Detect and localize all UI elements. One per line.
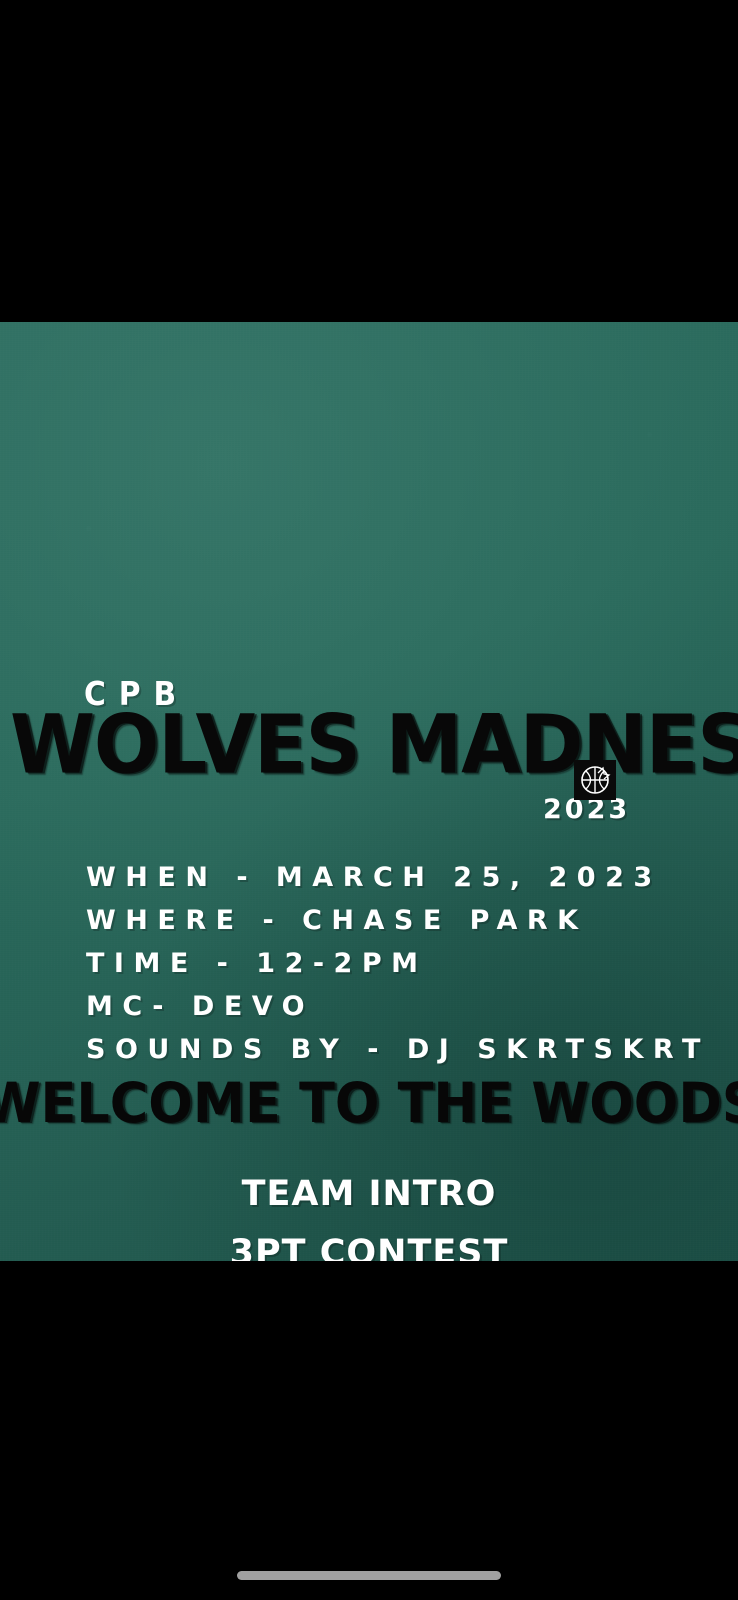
- home-indicator[interactable]: [237, 1571, 501, 1580]
- detail-line-when: WHEN - MARCH 25, 2023: [86, 856, 710, 899]
- event-details-list: WHEN - MARCH 25, 2023 WHERE - CHASE PARK…: [86, 856, 710, 1071]
- flyer-content: CPB WOLVES MADNESS 2023 WHEN - MARCH 25,…: [0, 322, 738, 1261]
- flyer-title: WOLVES MADNESS: [10, 704, 738, 785]
- detail-line-mc: MC- DEVO: [86, 985, 710, 1028]
- phone-screen: CPB WOLVES MADNESS 2023 WHEN - MARCH 25,…: [0, 0, 738, 1600]
- bottom-letterbox: [0, 1261, 738, 1600]
- event-flyer-image[interactable]: CPB WOLVES MADNESS 2023 WHEN - MARCH 25,…: [0, 322, 738, 1261]
- detail-line-where: WHERE - CHASE PARK: [86, 899, 710, 942]
- detail-line-sounds: SOUNDS BY - DJ SKRTSKRT: [86, 1028, 710, 1071]
- flyer-headline: WELCOME TO THE WOODS: [0, 1076, 738, 1131]
- flyer-year: 2023: [543, 796, 630, 823]
- top-letterbox: [0, 0, 738, 322]
- detail-line-time: TIME - 12-2PM: [86, 942, 710, 985]
- agenda-item-team-intro: TEAM INTRO: [0, 1177, 738, 1212]
- wolf-basketball-logo-icon: [574, 760, 616, 800]
- agenda-item-3pt-contest: 3PT CONTEST: [0, 1236, 738, 1261]
